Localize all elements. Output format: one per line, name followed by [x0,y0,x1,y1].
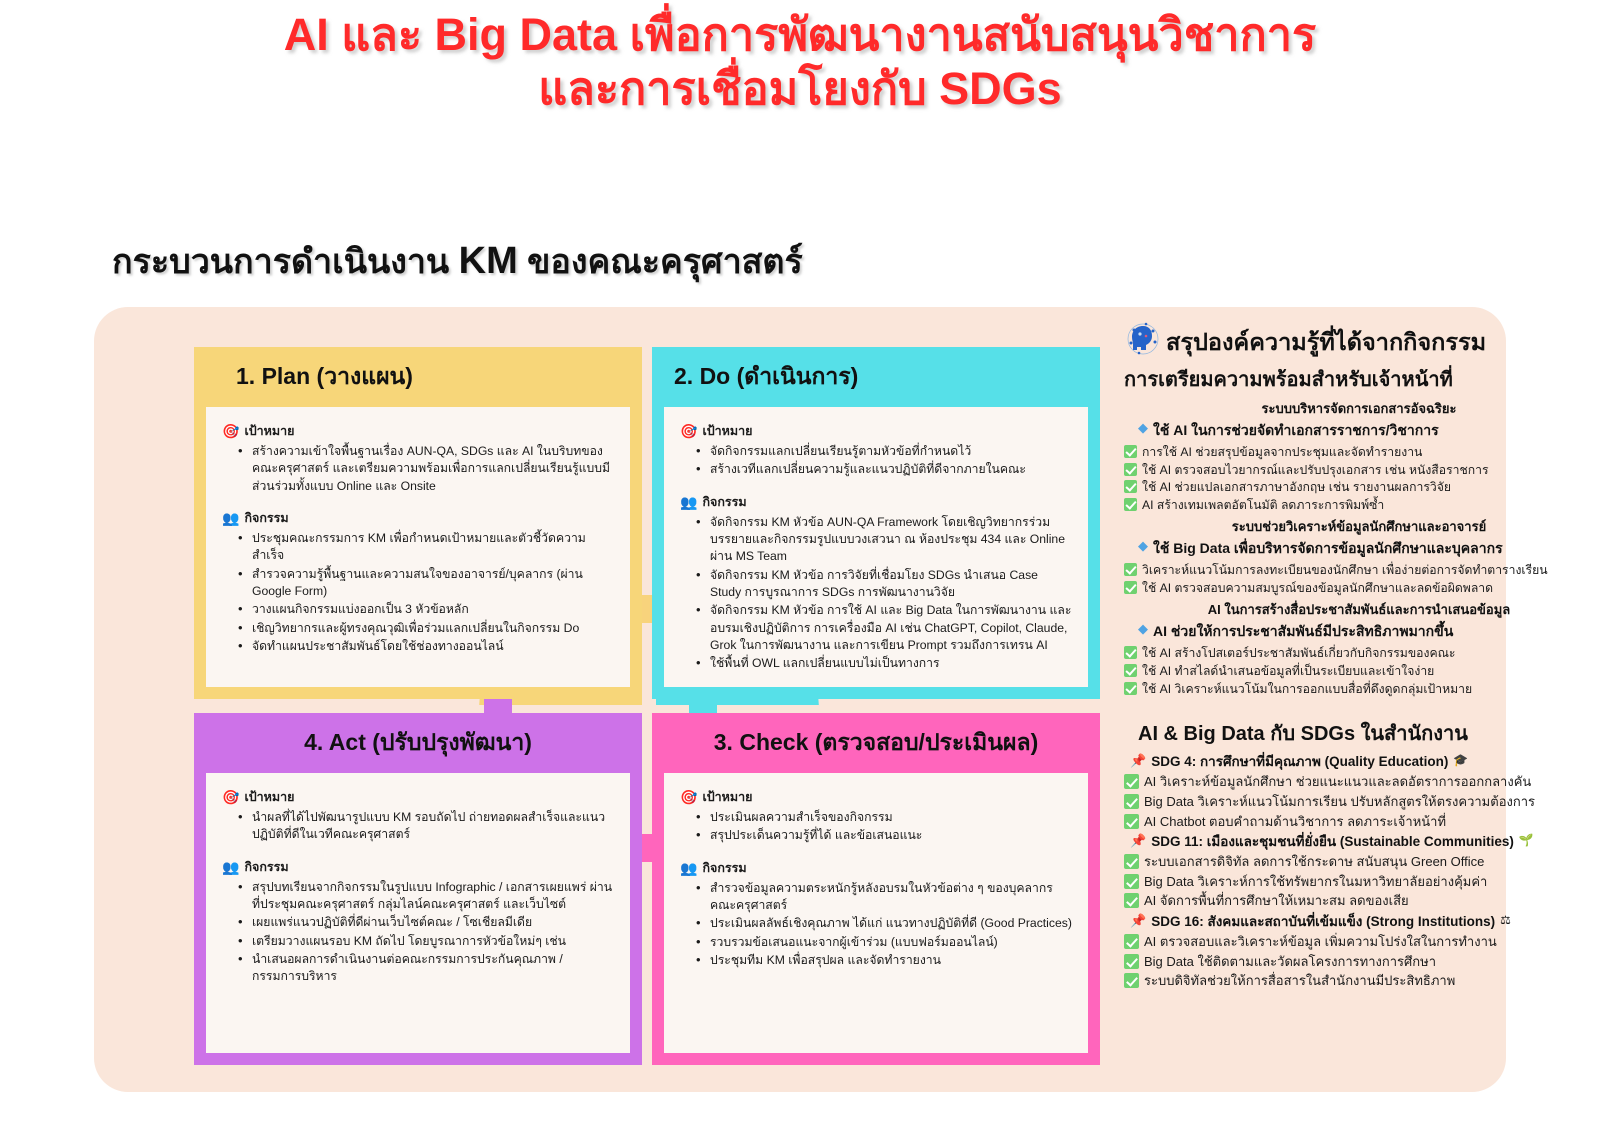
list-item-text: Big Data ใช้ติดตามและวัดผลโครงการทางการศ… [1144,953,1436,970]
list-item: การใช้ AI ช่วยสรุปข้อมูลจากประชุมและจัดท… [1124,444,1594,460]
target-icon: 🎯 [222,790,239,804]
sdg-section-title: AI & Big Data กับ SDGs ในสำนักงาน [1138,717,1594,749]
list-item: สร้างความเข้าใจพื้นฐานเรื่อง AUN-QA, SDG… [236,443,614,495]
quadrant-check-body: 🎯 เป้าหมาย ประเมินผลความสำเร็จของกิจกรรม… [664,773,1088,1053]
goal-section-header: 🎯 เป้าหมาย [680,787,1072,807]
brain-network-icon [1126,322,1160,362]
pin-icon: 📌 [1130,753,1146,770]
summary-group: AI ในการสร้างสื่อประชาสัมพันธ์และการนำเส… [1124,599,1594,697]
list-item: ประเมินผลความสำเร็จของกิจกรรม [694,809,1072,826]
group-subheader: ระบบช่วยวิเคราะห์ข้อมูลนักศึกษาและอาจารย… [1124,516,1594,537]
pin-icon: 📌 [1130,833,1146,850]
people-icon: 👥 [222,511,239,525]
list-item-text: Big Data วิเคราะห์การใช้ทรัพยากรในมหาวิท… [1144,873,1487,890]
list-item: AI สร้างเทมเพลตอัตโนมัติ ลดภาระการพิมพ์ซ… [1124,497,1594,513]
list-item: เผยแพร่แนวปฏิบัติที่ดีผ่านเว็บไซต์คณะ / … [236,914,614,931]
list-item: ใช้ AI ทำสไลด์นำเสนอข้อมูลที่เป็นระเบียบ… [1124,663,1594,679]
sdg-header: 📌 SDG 16: สังคมและสถาบันที่เข้มแข็ง (Str… [1130,913,1594,931]
check-icon [1124,563,1137,576]
goal-label: เป้าหมาย [702,787,752,807]
list-item: AI จัดการพื้นที่การศึกษาให้เหมาะสม ลดของ… [1124,892,1594,909]
list-item: สรุปประเด็นความรู้ที่ได้ และข้อเสนอแนะ [694,827,1072,844]
target-icon: 🎯 [680,424,697,438]
list-item: สรุปบทเรียนจากกิจกรรมในรูปแบบ Infographi… [236,879,614,914]
title-line-1: AI และ Big Data เพื่อการพัฒนางานสนับสนุน… [0,8,1600,62]
activity-section-header: 👥 กิจกรรม [680,492,1072,512]
subheading-after: ของคณะครุศาสตร์ [518,243,803,281]
do-goal-list: จัดกิจกรรมแลกเปลี่ยนเรียนรู้ตามหัวข้อที่… [694,443,1072,479]
group-lead: ◆ ใช้ AI ในการช่วยจัดทำเอกสารราชการ/วิชา… [1138,420,1594,442]
check-goal-list: ประเมินผลความสำเร็จของกิจกรรม สรุปประเด็… [694,809,1072,845]
list-item: วางแผนกิจกรรมแบ่งออกเป็น 3 หัวข้อหลัก [236,601,614,618]
sdg-header-text: SDG 16: สังคมและสถาบันที่เข้มแข็ง (Stron… [1151,913,1495,931]
list-item: จัดกิจกรรม KM หัวข้อ AUN-QA Framework โด… [694,514,1072,566]
list-item: ใช้ AI ตรวจสอบไวยากรณ์และปรับปรุงเอกสาร … [1124,462,1594,478]
activity-section-header: 👥 กิจกรรม [222,508,614,528]
seedling-icon: 🌱 [1519,833,1534,849]
list-item-text: การใช้ AI ช่วยสรุปข้อมูลจากประชุมและจัดท… [1142,444,1422,460]
quadrant-do-body: 🎯 เป้าหมาย จัดกิจกรรมแลกเปลี่ยนเรียนรู้ต… [664,407,1088,687]
check-icon [1124,480,1137,493]
quadrant-plan-body: 🎯 เป้าหมาย สร้างความเข้าใจพื้นฐานเรื่อง … [206,407,630,687]
quadrant-check-title: 3. Check (ตรวจสอบ/ประเมินผล) [652,713,1100,773]
activity-label: กิจกรรม [244,508,288,528]
list-item: นำเสนอผลการดำเนินงานต่อคณะกรรมการประกันค… [236,951,614,986]
list-item: วิเคราะห์แนวโน้มการลงทะเบียนของนักศึกษา … [1124,562,1594,578]
check-icon [1124,445,1137,458]
list-item-text: AI จัดการพื้นที่การศึกษาให้เหมาะสม ลดของ… [1144,892,1409,909]
list-item: ใช้ AI ตรวจสอบความสมบูรณ์ของข้อมูลนักศึก… [1124,580,1594,596]
check-icon [1124,874,1139,889]
people-icon: 👥 [680,861,697,875]
quadrant-check: 3. Check (ตรวจสอบ/ประเมินผล) 🎯 เป้าหมาย … [652,713,1100,1065]
scales-icon: ⚖ [1500,913,1511,929]
list-item: จัดกิจกรรมแลกเปลี่ยนเรียนรู้ตามหัวข้อที่… [694,443,1072,460]
activity-label: กิจกรรม [702,492,746,512]
check-icon [1124,646,1137,659]
activity-section-header: 👥 กิจกรรม [222,857,614,877]
goal-label: เป้าหมาย [244,787,294,807]
list-item: จัดทำแผนประชาสัมพันธ์โดยใช้ช่องทางออนไลน… [236,638,614,655]
list-item-text: ระบบเอกสารดิจิทัล ลดการใช้กระดาษ สนับสนุ… [1144,853,1484,870]
list-item: จัดกิจกรรม KM หัวข้อ การใช้ AI และ Big D… [694,602,1072,654]
summary-title-text: สรุปองค์ความรู้ที่ได้จากกิจกรรม [1166,324,1486,361]
summary-column: สรุปองค์ความรู้ที่ได้จากกิจกรรม การเตรีย… [1124,322,1594,1082]
list-item: AI วิเคราะห์ข้อมูลนักศึกษา ช่วยแนะแนวและ… [1124,773,1594,790]
quadrant-do-title: 2. Do (ดำเนินการ) [652,347,1100,407]
list-item-text: AI วิเคราะห์ข้อมูลนักศึกษา ช่วยแนะแนวและ… [1144,773,1531,790]
list-item: ใช้ AI วิเคราะห์แนวโน้มในการออกแบบสื่อที… [1124,681,1594,697]
activity-section-header: 👥 กิจกรรม [680,858,1072,878]
subheading-km: KM [459,240,518,282]
group-lead: ◆ AI ช่วยให้การประชาสัมพันธ์มีประสิทธิภา… [1138,621,1594,643]
group-lead: ◆ ใช้ Big Data เพื่อบริหารจัดการข้อมูลนั… [1138,538,1594,560]
check-activity-list: สำรวจข้อมูลความตระหนักรู้หลังอบรมในหัวข้… [694,880,1072,970]
list-item-text: ใช้ AI วิเคราะห์แนวโน้มในการออกแบบสื่อที… [1142,681,1472,697]
goal-label: เป้าหมาย [244,421,294,441]
check-icon [1124,794,1139,809]
list-item: AI ตรวจสอบและวิเคราะห์ข้อมูล เพิ่มความโป… [1124,933,1594,950]
diamond-icon: ◆ [1138,420,1148,436]
goal-section-header: 🎯 เป้าหมาย [222,421,614,441]
list-item: ประชุมคณะกรรมการ KM เพื่อกำหนดเป้าหมายแล… [236,530,614,565]
check-icon [1124,682,1137,695]
list-item: สำรวจความรู้พื้นฐานและความสนใจของอาจารย์… [236,566,614,601]
quadrant-plan-title: 1. Plan (วางแผน) [194,347,642,407]
quadrant-act-title: 4. Act (ปรับปรุงพัฒนา) [194,713,642,773]
group-subheader: ระบบบริหารจัดการเอกสารอัจฉริยะ [1124,398,1594,419]
sdg-header-text: SDG 4: การศึกษาที่มีคุณภาพ (Quality Educ… [1151,753,1448,771]
list-item-text: ใช้ AI ทำสไลด์นำเสนอข้อมูลที่เป็นระเบียบ… [1142,663,1434,679]
quadrant-act: 4. Act (ปรับปรุงพัฒนา) 🎯 เป้าหมาย นำผลที… [194,713,642,1065]
list-item: เตรียมวางแผนรอบ KM ถัดไป โดยบูรณาการหัวข… [236,933,614,950]
summary-group: ระบบบริหารจัดการเอกสารอัจฉริยะ ◆ ใช้ AI … [1124,398,1594,513]
check-icon [1124,774,1139,789]
list-item-text: Big Data วิเคราะห์แนวโน้มการเรียน ปรับหล… [1144,793,1535,810]
summary-title-row: สรุปองค์ความรู้ที่ได้จากกิจกรรม [1126,322,1594,362]
list-item: ใช้พื้นที่ OWL แลกเปลี่ยนแบบไม่เป็นทางกา… [694,655,1072,672]
graduation-cap-icon: 🎓 [1453,753,1468,769]
sdg-header: 📌 SDG 11: เมืองและชุมชนที่ยั่งยืน (Susta… [1130,833,1594,851]
section-subheading: กระบวนการดำเนินงาน KM ของคณะครุศาสตร์ [112,234,803,288]
list-item: ประเมินผลลัพธ์เชิงคุณภาพ ได้แก่ แนวทางปฏ… [694,915,1072,932]
check-icon [1124,954,1139,969]
goal-label: เป้าหมาย [702,421,752,441]
list-item: นำผลที่ได้ไปพัฒนารูปแบบ KM รอบถัดไป ถ่าย… [236,809,614,844]
list-item: Big Data วิเคราะห์การใช้ทรัพยากรในมหาวิท… [1124,873,1594,890]
list-item: ใช้ AI สร้างโปสเตอร์ประชาสัมพันธ์เกี่ยวก… [1124,645,1594,661]
summary-group: ระบบช่วยวิเคราะห์ข้อมูลนักศึกษาและอาจารย… [1124,516,1594,596]
list-item: รวบรวมข้อเสนอแนะจากผู้เข้าร่วม (แบบฟอร์ม… [694,934,1072,951]
people-icon: 👥 [680,495,697,509]
list-item-text: ระบบดิจิทัลช่วยให้การสื่อสารในสำนักงานมี… [1144,972,1455,989]
list-item-text: ใช้ AI สร้างโปสเตอร์ประชาสัมพันธ์เกี่ยวก… [1142,645,1455,661]
infographic-page: AI และ Big Data เพื่อการพัฒนางานสนับสนุน… [0,0,1600,1130]
check-icon [1124,973,1139,988]
list-item-text: AI สร้างเทมเพลตอัตโนมัติ ลดภาระการพิมพ์ซ… [1142,497,1384,513]
act-goal-list: นำผลที่ได้ไปพัฒนารูปแบบ KM รอบถัดไป ถ่าย… [236,809,614,844]
sdg-header-text: SDG 11: เมืองและชุมชนที่ยั่งยืน (Sustain… [1151,833,1514,851]
page-title: AI และ Big Data เพื่อการพัฒนางานสนับสนุน… [0,8,1600,116]
quadrant-plan: 1. Plan (วางแผน) 🎯 เป้าหมาย สร้างความเข้… [194,347,642,699]
list-item: ระบบเอกสารดิจิทัล ลดการใช้กระดาษ สนับสนุ… [1124,853,1594,870]
sdg-group: 📌 SDG 4: การศึกษาที่มีคุณภาพ (Quality Ed… [1124,753,1594,990]
list-item-text: ใช้ AI ตรวจสอบความสมบูรณ์ของข้อมูลนักศึก… [1142,580,1493,596]
plan-activity-list: ประชุมคณะกรรมการ KM เพื่อกำหนดเป้าหมายแล… [236,530,614,655]
act-activity-list: สรุปบทเรียนจากกิจกรรมในรูปแบบ Infographi… [236,879,614,986]
target-icon: 🎯 [680,790,697,804]
list-item-text: ใช้ AI ตรวจสอบไวยากรณ์และปรับปรุงเอกสาร … [1142,462,1489,478]
people-icon: 👥 [222,860,239,874]
list-item-text: AI ตรวจสอบและวิเคราะห์ข้อมูล เพิ่มความโป… [1144,933,1497,950]
list-item: ประชุมทีม KM เพื่อสรุปผล และจัดทำรายงาน [694,952,1072,969]
goal-section-header: 🎯 เป้าหมาย [680,421,1072,441]
list-item: Big Data วิเคราะห์แนวโน้มการเรียน ปรับหล… [1124,793,1594,810]
check-icon [1124,664,1137,677]
pdca-grid: 1. Plan (วางแผน) 🎯 เป้าหมาย สร้างความเข้… [194,347,1104,1065]
title-line-2: และการเชื่อมโยงกับ SDGs [0,62,1600,116]
sdg-header: 📌 SDG 4: การศึกษาที่มีคุณภาพ (Quality Ed… [1130,753,1594,771]
list-item: จัดกิจกรรม KM หัวข้อ การวิจัยที่เชื่อมโย… [694,567,1072,602]
check-icon [1124,814,1139,829]
quadrant-do: 2. Do (ดำเนินการ) 🎯 เป้าหมาย จัดกิจกรรมแ… [652,347,1100,699]
list-item: ระบบดิจิทัลช่วยให้การสื่อสารในสำนักงานมี… [1124,972,1594,989]
check-icon [1124,893,1139,908]
group-subheader: AI ในการสร้างสื่อประชาสัมพันธ์และการนำเส… [1124,599,1594,620]
main-panel: 1. Plan (วางแผน) 🎯 เป้าหมาย สร้างความเข้… [94,307,1506,1092]
list-item: AI Chatbot ตอบคำถามด้านวิชาการ ลดภาระเจ้… [1124,813,1594,830]
group-lead-text: ใช้ Big Data เพื่อบริหารจัดการข้อมูลนักศ… [1153,538,1503,560]
quadrant-act-body: 🎯 เป้าหมาย นำผลที่ได้ไปพัฒนารูปแบบ KM รอ… [206,773,630,1053]
plan-goal-list: สร้างความเข้าใจพื้นฐานเรื่อง AUN-QA, SDG… [236,443,614,495]
list-item: Big Data ใช้ติดตามและวัดผลโครงการทางการศ… [1124,953,1594,970]
target-icon: 🎯 [222,424,239,438]
group-lead-text: AI ช่วยให้การประชาสัมพันธ์มีประสิทธิภาพม… [1153,621,1453,643]
do-activity-list: จัดกิจกรรม KM หัวข้อ AUN-QA Framework โด… [694,514,1072,673]
list-item-text: AI Chatbot ตอบคำถามด้านวิชาการ ลดภาระเจ้… [1144,813,1446,830]
group-lead-text: ใช้ AI ในการช่วยจัดทำเอกสารราชการ/วิชากา… [1153,420,1439,442]
check-icon [1124,934,1139,949]
diamond-icon: ◆ [1138,621,1148,637]
list-item-text: ใช้ AI ช่วยแปลเอกสารภาษาอังกฤษ เช่น รายง… [1142,479,1451,495]
goal-section-header: 🎯 เป้าหมาย [222,787,614,807]
list-item: สำรวจข้อมูลความตระหนักรู้หลังอบรมในหัวข้… [694,880,1072,915]
check-icon [1124,498,1137,511]
check-icon [1124,854,1139,869]
check-icon [1124,581,1137,594]
list-item: สร้างเวทีแลกเปลี่ยนความรู้และแนวปฏิบัติท… [694,461,1072,478]
activity-label: กิจกรรม [702,858,746,878]
list-item: ใช้ AI ช่วยแปลเอกสารภาษาอังกฤษ เช่น รายง… [1124,479,1594,495]
diamond-icon: ◆ [1138,538,1148,554]
activity-label: กิจกรรม [244,857,288,877]
check-icon [1124,463,1137,476]
summary-heading: การเตรียมความพร้อมสำหรับเจ้าหน้าที่ [1124,363,1594,395]
list-item: เชิญวิทยากรและผู้ทรงคุณวุฒิเพื่อร่วมแลกเ… [236,620,614,637]
pin-icon: 📌 [1130,913,1146,930]
list-item-text: วิเคราะห์แนวโน้มการลงทะเบียนของนักศึกษา … [1142,562,1548,578]
subheading-before: กระบวนการดำเนินงาน [112,243,459,281]
